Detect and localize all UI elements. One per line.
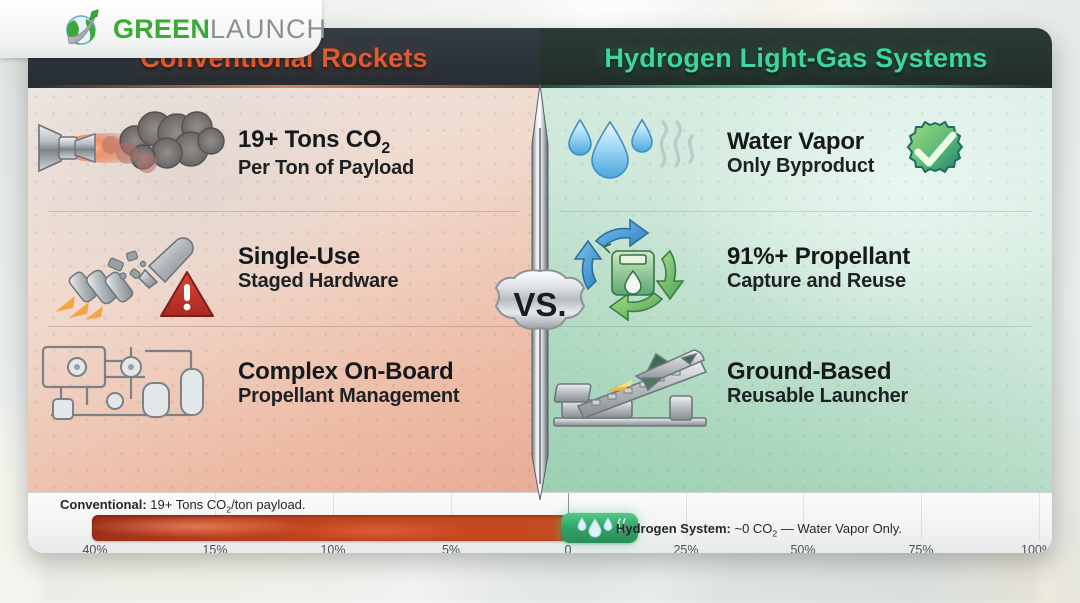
left-row-3-headline: Complex On-Board xyxy=(238,359,526,385)
left-row-1-headline: 19+ Tons CO2 xyxy=(238,127,526,157)
right-column-title: Hydrogen Light-Gas Systems xyxy=(604,43,987,74)
axis-tick: 5% xyxy=(442,543,460,553)
rocket-engine-smoke-icon xyxy=(28,99,238,209)
chart-left-label: Conventional: 19+ Tons CO2/ton payload. xyxy=(60,497,306,515)
right-row-ground-launcher: Ground-Based Reusable Launcher xyxy=(540,326,1052,441)
left-row-propellant-management: Complex On-Board Propellant Management xyxy=(28,326,540,441)
axis-tick: 15% xyxy=(202,543,227,553)
footer-chart: Conventional: 19+ Tons CO2/ton payload. xyxy=(28,492,1052,553)
left-column: 19+ Tons CO2 Per Ton of Payload xyxy=(28,88,540,493)
brand-name-primary: GREEN xyxy=(113,14,210,44)
green-check-badge-icon xyxy=(898,114,972,193)
ground-rail-launcher-icon xyxy=(540,329,725,439)
left-row-2-subline: Staged Hardware xyxy=(238,270,526,292)
vs-label: VS. xyxy=(513,286,566,323)
left-row-1-text: 19+ Tons CO2 Per Ton of Payload xyxy=(238,127,540,179)
comparison-card: Conventional Rockets Hydrogen Light-Gas … xyxy=(28,28,1052,553)
right-row-1-text: Water Vapor Only Byproduct xyxy=(725,114,1052,193)
propellant-plumbing-icon xyxy=(28,329,238,439)
rocket-staging-warning-icon xyxy=(28,214,238,324)
axis-tick: 100% xyxy=(1021,543,1052,553)
card-reflection xyxy=(42,556,1038,602)
right-row-3-headline: Ground-Based xyxy=(727,359,1038,385)
left-row-1-subline: Per Ton of Payload xyxy=(238,157,526,179)
axis-tick: 25% xyxy=(673,543,698,553)
right-row-2-headline: 91%+ Propellant xyxy=(727,244,1038,270)
right-row-water-vapor: Water Vapor Only Byproduct xyxy=(540,96,1052,211)
chart-axis-ticks: 40% 15% 10% 5% 0 25% 50% 75% 100% xyxy=(56,543,1024,553)
right-row-3-subline: Reusable Launcher xyxy=(727,385,1038,407)
right-row-3-text: Ground-Based Reusable Launcher xyxy=(725,359,1052,407)
left-row-3-subline: Propellant Management xyxy=(238,385,526,407)
right-row-1-headline: Water Vapor xyxy=(727,129,874,155)
axis-tick: 40% xyxy=(82,543,107,553)
right-row-2-subline: Capture and Reuse xyxy=(727,270,1038,292)
right-row-propellant-reuse: 91%+ Propellant Capture and Reuse xyxy=(540,211,1052,326)
left-row-single-use: Single-Use Staged Hardware xyxy=(28,211,540,326)
right-column: Water Vapor Only Byproduct xyxy=(540,88,1052,493)
brand-name: GREENLAUNCH xyxy=(113,16,327,43)
axis-tick-zero: 0 xyxy=(565,543,572,553)
brand-name-secondary: LAUNCH xyxy=(210,14,327,44)
brand-logo[interactable]: GREENLAUNCH xyxy=(60,6,327,52)
vs-shield-icon: VS. xyxy=(486,268,594,342)
axis-tick: 75% xyxy=(908,543,933,553)
left-row-2-headline: Single-Use xyxy=(238,244,526,270)
right-row-1-subline: Only Byproduct xyxy=(727,155,874,177)
header-right-panel: Hydrogen Light-Gas Systems xyxy=(540,28,1052,88)
axis-tick: 50% xyxy=(790,543,815,553)
water-droplets-vapor-icon xyxy=(540,99,725,209)
axis-tick: 10% xyxy=(320,543,345,553)
conventional-bar xyxy=(92,515,568,541)
chart-right-label: Hydrogen System: ~0 CO2 — Water Vapor On… xyxy=(616,521,902,539)
left-row-emissions: 19+ Tons CO2 Per Ton of Payload xyxy=(28,96,540,211)
globe-rocket-icon xyxy=(60,6,106,52)
left-row-3-text: Complex On-Board Propellant Management xyxy=(238,359,540,407)
right-row-2-text: 91%+ Propellant Capture and Reuse xyxy=(725,244,1052,292)
logo-bar: GREENLAUNCH xyxy=(0,0,322,58)
